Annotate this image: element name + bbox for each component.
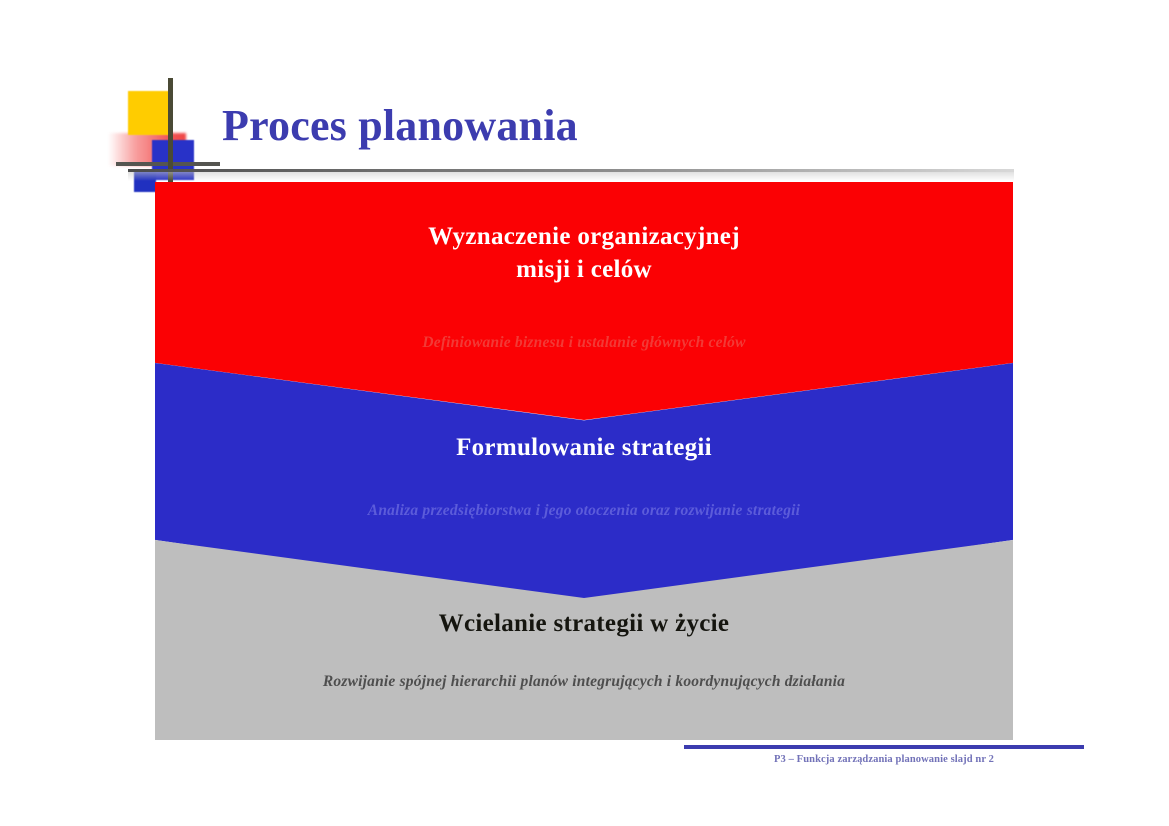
slide-canvas: Proces planowania Wyznaczenie organizacy… <box>0 0 1169 826</box>
title-divider-shadow <box>128 172 1014 181</box>
page-title: Proces planowania <box>222 100 578 151</box>
logo-yellow-square <box>128 91 172 135</box>
footer-divider <box>684 745 1084 749</box>
footer-label: P3 – Funkcja zarządzania planowanie slaj… <box>684 754 1084 765</box>
planning-process-diagram: Wyznaczenie organizacyjnej misji i celów… <box>155 182 1013 740</box>
